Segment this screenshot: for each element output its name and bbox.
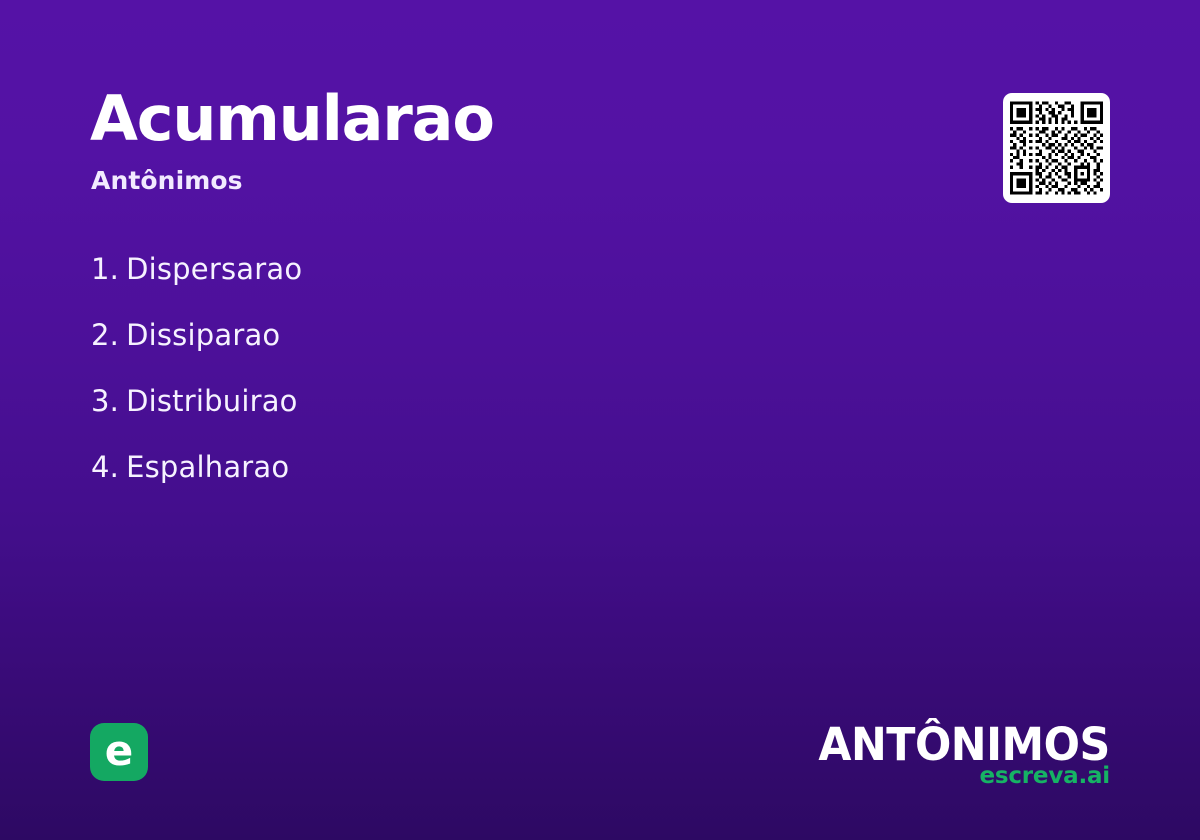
page-subtitle: Antônimos (91, 168, 243, 193)
list-item: 4.Espalharao (91, 434, 302, 500)
page-title: Acumularao (90, 88, 494, 150)
antonyms-list: 1.Dispersarao 2.Dissiparao 3.Distribuira… (91, 236, 302, 500)
logo-letter: e (90, 730, 148, 772)
escreva-logo-icon[interactable]: e (90, 723, 148, 781)
list-item-word: Dissiparao (126, 318, 280, 352)
wordmark-title: ANTÔNIMOS (819, 724, 1110, 765)
brand-wordmark: ANTÔNIMOS escreva.ai (803, 724, 1110, 788)
list-item-number: 2. (91, 318, 119, 352)
list-item: 2.Dissiparao (91, 302, 302, 368)
qr-code-icon[interactable] (1003, 93, 1110, 203)
list-item-number: 3. (91, 384, 119, 418)
list-item-word: Dispersarao (126, 252, 302, 286)
list-item: 3.Distribuirao (91, 368, 302, 434)
list-item-word: Distribuirao (126, 384, 298, 418)
antonyms-card: Acumularao Antônimos 1.Dispersarao 2.Dis… (0, 0, 1200, 840)
list-item-word: Espalharao (126, 450, 289, 484)
list-item-number: 1. (91, 252, 119, 286)
list-item: 1.Dispersarao (91, 236, 302, 302)
list-item-number: 4. (91, 450, 119, 484)
